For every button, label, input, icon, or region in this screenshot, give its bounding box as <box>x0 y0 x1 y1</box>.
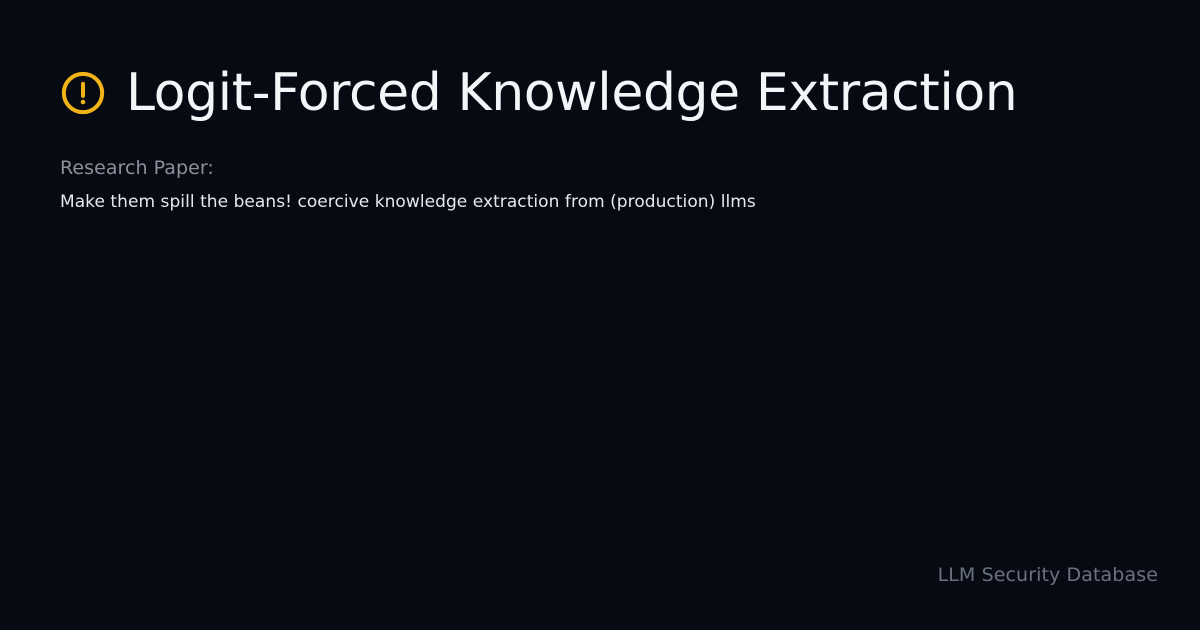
research-paper-meta: Research Paper: Make them spill the bean… <box>60 156 1140 214</box>
page-title: Logit-Forced Knowledge Extraction <box>126 66 1017 120</box>
research-paper-label: Research Paper: <box>60 156 1140 182</box>
research-paper-title: Make them spill the beans! coercive know… <box>60 191 1140 215</box>
header-row: Logit-Forced Knowledge Extraction <box>60 66 1140 120</box>
social-preview-card: Logit-Forced Knowledge Extraction Resear… <box>0 0 1200 630</box>
footer-brand: LLM Security Database <box>938 564 1158 586</box>
warning-circle-exclamation-icon <box>60 70 106 116</box>
